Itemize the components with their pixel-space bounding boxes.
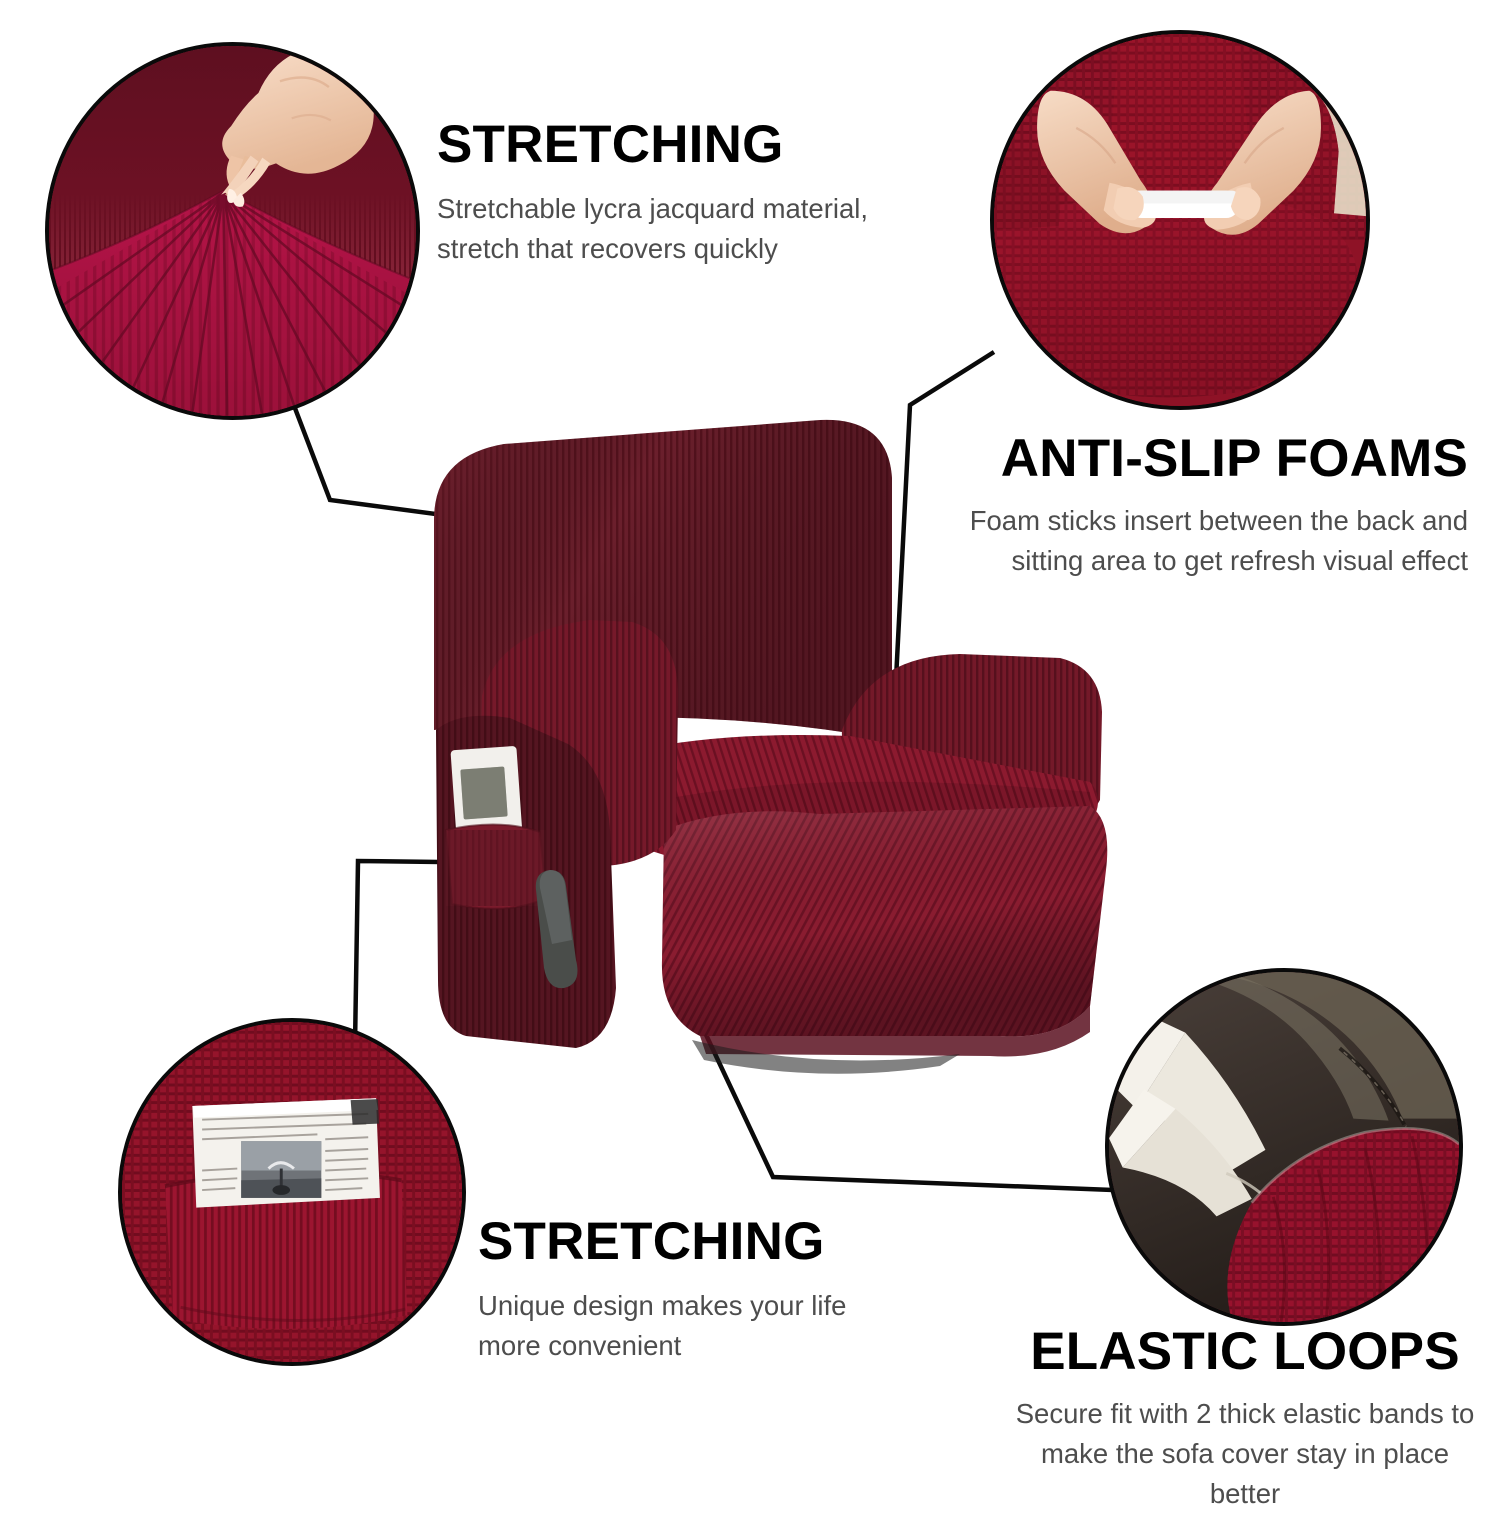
- hand-pinch-illustration: [49, 46, 416, 416]
- headline-stretching-bottom: STRETCHING: [478, 1215, 846, 1268]
- infographic-canvas: STRETCHING Stretchable lycra jacquard ma…: [0, 0, 1500, 1500]
- body-stretching-top-line-1: Stretchable lycra jacquard material,: [437, 189, 868, 229]
- headline-elastic-loops: ELASTIC LOOPS: [1010, 1325, 1480, 1378]
- headline-anti-slip-foams: ANTI-SLIP FOAMS: [970, 432, 1468, 485]
- callout-photo-stretching-top: [45, 42, 420, 420]
- body-stretching-bottom-line-1: Unique design makes your life: [478, 1286, 846, 1326]
- headline-stretching-top: STRETCHING: [437, 118, 868, 171]
- body-stretching-bottom-line-2: more convenient: [478, 1326, 846, 1366]
- book-in-pocket-illustration: [122, 1022, 462, 1362]
- callout-photo-stretching-bottom: [118, 1018, 466, 1366]
- body-stretching-top-line-2: stretch that recovers quickly: [437, 229, 868, 269]
- body-anti-slip-foams-line-2: sitting area to get refresh visual effec…: [970, 541, 1468, 581]
- hands-inserting-foam-illustration: [994, 34, 1366, 406]
- body-elastic-loops-line-2: make the sofa cover stay in place better: [1010, 1434, 1480, 1514]
- label-elastic-loops: ELASTIC LOOPS Secure fit with 2 thick el…: [1010, 1325, 1480, 1514]
- body-anti-slip-foams-line-1: Foam sticks insert between the back and: [970, 501, 1468, 541]
- chair-footrest: [662, 806, 1107, 1057]
- label-anti-slip-foams: ANTI-SLIP FOAMS Foam sticks insert betwe…: [970, 432, 1468, 581]
- callout-photo-anti-slip-foams: [990, 30, 1370, 410]
- body-elastic-loops-line-1: Secure fit with 2 thick elastic bands to: [1010, 1394, 1480, 1434]
- label-stretching-top: STRETCHING Stretchable lycra jacquard ma…: [437, 118, 868, 269]
- callout-photo-elastic-loops: [1105, 968, 1463, 1326]
- label-stretching-bottom: STRETCHING Unique design makes your life…: [478, 1215, 846, 1366]
